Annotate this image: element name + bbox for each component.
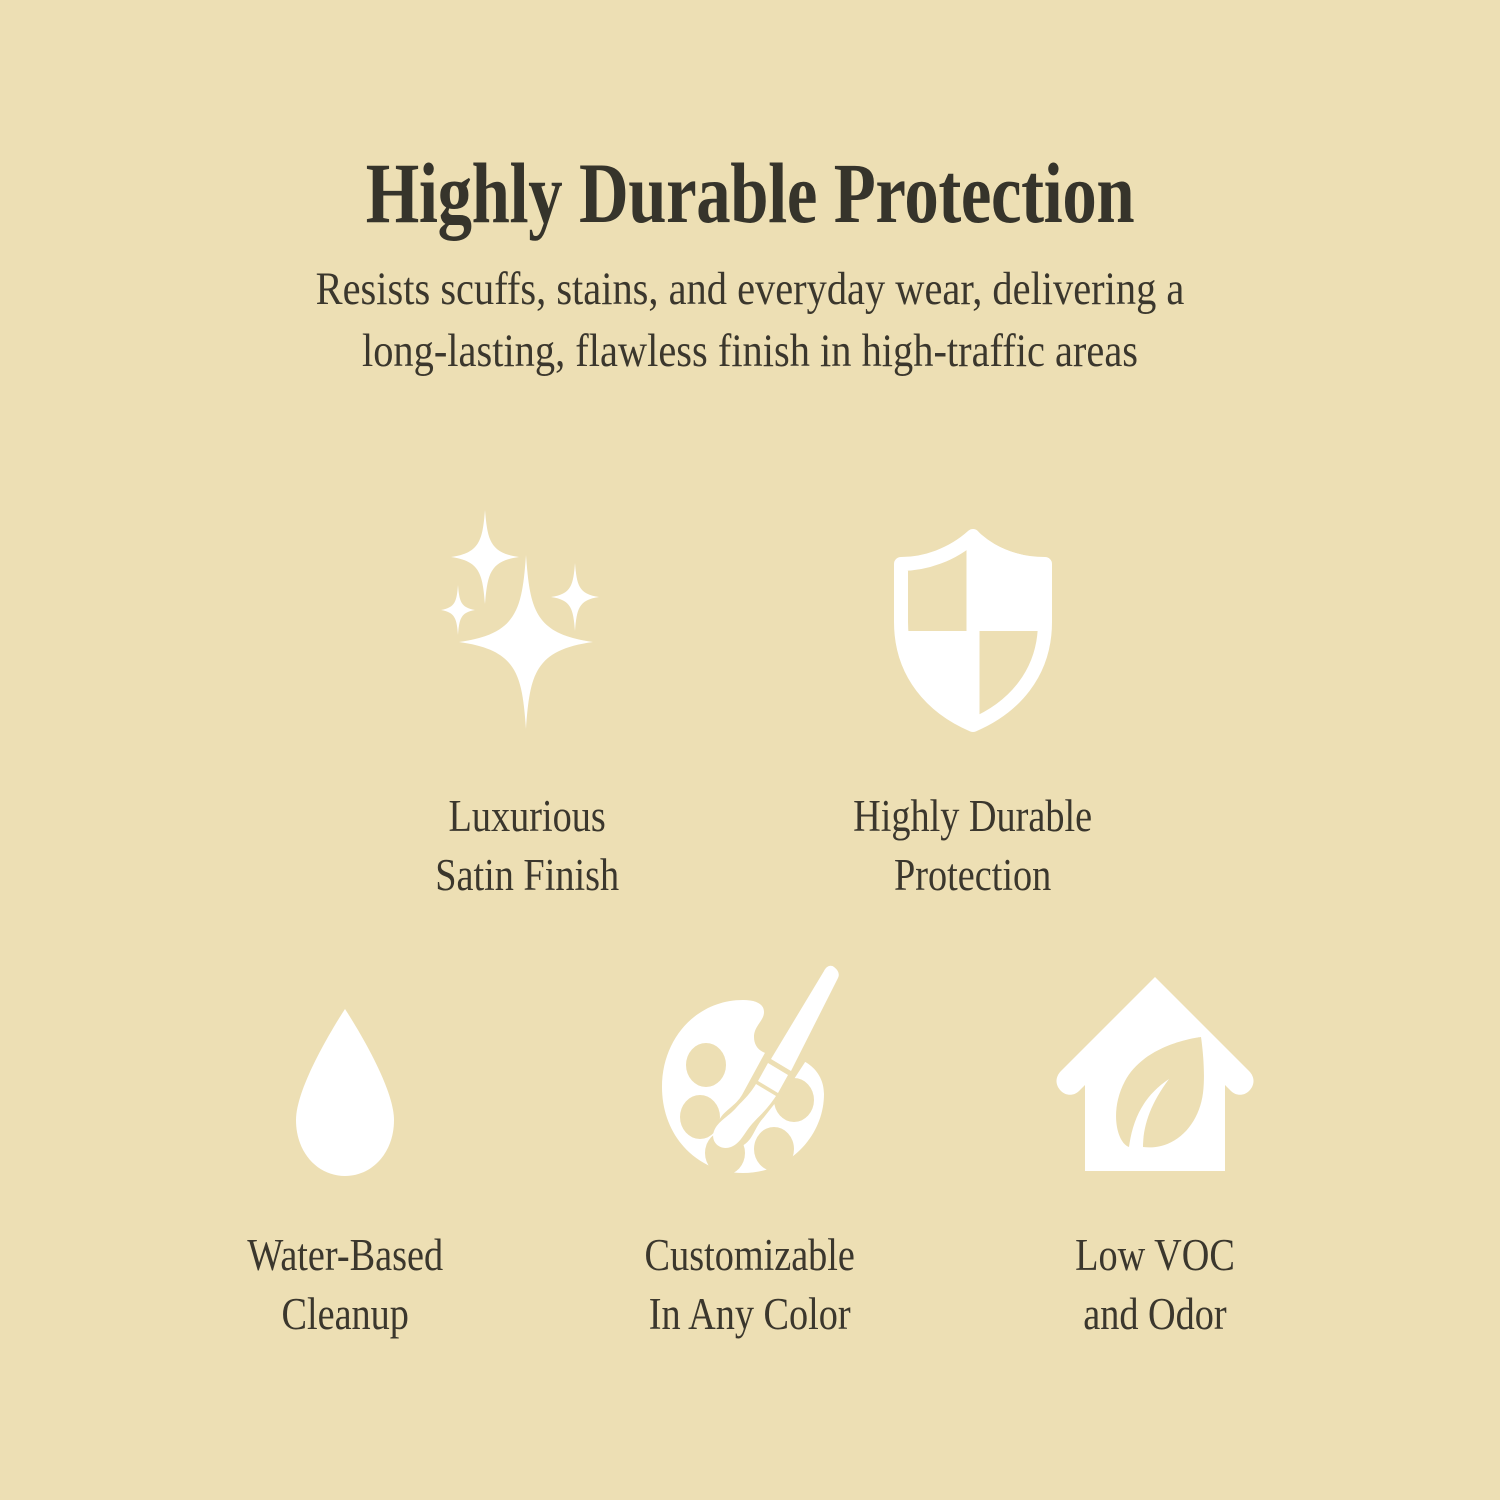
- feature-row-top: Luxurious Satin Finish: [0, 500, 1500, 906]
- feature-label-line-2: Satin Finish: [436, 846, 620, 905]
- page-subtitle: Resists scuffs, stains, and everyday wea…: [225, 258, 1274, 382]
- feature-label-line-1: Highly Durable: [853, 787, 1092, 846]
- feature-label-line-2: In Any Color: [645, 1285, 855, 1344]
- feature-item-water-cleanup: Water-Based Cleanup: [143, 955, 548, 1345]
- feature-label-low-voc: Low VOC and Odor: [1075, 1226, 1235, 1345]
- page-header: Highly Durable Protection Resists scuffs…: [0, 150, 1500, 382]
- feature-label-line-1: Luxurious: [436, 787, 620, 846]
- feature-label-water-cleanup: Water-Based Cleanup: [247, 1226, 443, 1345]
- page-subtitle-line-2: long-lasting, flawless finish in high-tr…: [225, 320, 1274, 382]
- feature-item-durable-protection: Highly Durable Protection: [750, 500, 1195, 906]
- feature-label-customizable-color: Customizable In Any Color: [645, 1226, 855, 1345]
- page-title: Highly Durable Protection: [150, 150, 1350, 236]
- water-drop-icon: [290, 955, 400, 1180]
- feature-label-durable-protection: Highly Durable Protection: [853, 787, 1092, 906]
- feature-label-line-2: and Odor: [1075, 1285, 1235, 1344]
- feature-label-line-1: Low VOC: [1075, 1226, 1235, 1285]
- feature-row-bottom: Water-Based Cleanup: [0, 955, 1500, 1345]
- page-subtitle-line-1: Resists scuffs, stains, and everyday wea…: [225, 258, 1274, 320]
- shield-icon: [887, 500, 1059, 735]
- feature-label-line-2: Protection: [853, 846, 1092, 905]
- feature-label-satin-finish: Luxurious Satin Finish: [436, 787, 620, 906]
- feature-label-line-1: Customizable: [645, 1226, 855, 1285]
- feature-label-line-2: Cleanup: [247, 1285, 443, 1344]
- sparkle-icon: [423, 500, 633, 735]
- paint-palette-icon: [650, 955, 850, 1180]
- feature-item-low-voc: Low VOC and Odor: [953, 955, 1358, 1345]
- house-leaf-icon: [1049, 955, 1261, 1180]
- feature-item-customizable-color: Customizable In Any Color: [548, 955, 953, 1345]
- feature-highlight-page: Highly Durable Protection Resists scuffs…: [0, 0, 1500, 1500]
- feature-label-line-1: Water-Based: [247, 1226, 443, 1285]
- feature-item-satin-finish: Luxurious Satin Finish: [305, 500, 750, 906]
